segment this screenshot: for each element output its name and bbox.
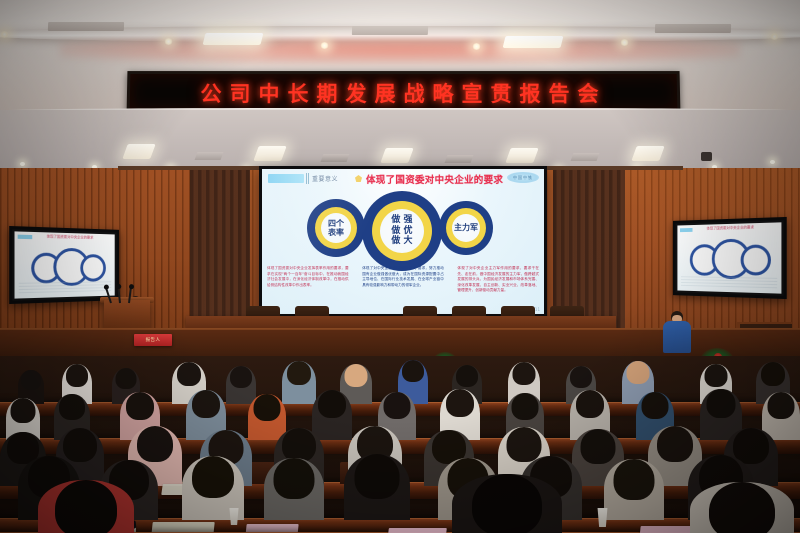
person-head: [705, 364, 728, 387]
audience-person: [604, 459, 664, 520]
person-head: [318, 390, 346, 418]
mini-paragraph-block: [19, 281, 111, 295]
slide-header: 重要意义 体现了国资委对中央企业的要求 中国中铁: [262, 169, 544, 191]
person-head: [507, 427, 542, 462]
person-head: [384, 392, 411, 419]
paper-sheet-pink: [639, 526, 694, 533]
mini-ring-right: [741, 244, 771, 275]
ceiling-light-panel: [122, 144, 155, 159]
concentric-rings-diagram: 四个 表率 做 强 做 优 做 大: [262, 193, 544, 263]
person-head: [11, 398, 36, 423]
mini-slide-title: 体现了国资委对中央企业的要求: [47, 234, 94, 240]
person-head: [345, 364, 368, 387]
side-monitor-left: 体现了国资委对中央企业的要求: [9, 226, 119, 304]
mini-ring-right: [80, 254, 106, 282]
person-head: [761, 362, 785, 386]
mirrored-slide: 体现了国资委对中央企业的要求: [677, 222, 781, 293]
audience-person: [248, 394, 286, 440]
ceiling-downlight: [164, 38, 173, 45]
person-head: [21, 370, 41, 390]
ceiling-spotlight: [770, 160, 775, 164]
person-head: [707, 389, 736, 418]
person-head: [177, 362, 201, 386]
person-head: [446, 389, 474, 417]
ceiling-strip-light: [203, 33, 264, 45]
ring-left-line-1: 四个: [328, 219, 344, 228]
ceiling-vent: [352, 26, 428, 35]
mini-slide-title: 体现了国资委对中央企业的要求: [707, 225, 754, 231]
presentation-slide: 重要意义 体现了国资委对中央企业的要求 中国中铁 四个 表率: [262, 169, 544, 314]
ceiling-light-panel: [505, 148, 538, 163]
person-head: [456, 365, 478, 387]
ring-center-line-1: 做 强: [391, 215, 412, 226]
side-monitor-right: 体现了国资委对中央企业的要求: [673, 217, 787, 299]
person-head: [230, 366, 252, 388]
ring-right-line-1: 主力军: [454, 223, 478, 232]
person-head: [282, 428, 316, 462]
ceiling-downlight: [770, 33, 779, 40]
ceiling-air-vent: [195, 152, 224, 160]
ceiling-vent: [48, 22, 124, 31]
ring-right: 主力军: [439, 201, 493, 255]
ceiling-downlight: [0, 31, 9, 38]
person-head: [768, 392, 795, 419]
ring-inner-disc: 主力军: [452, 214, 480, 242]
person-head: [116, 368, 137, 389]
audience-person-foreground: [690, 482, 794, 533]
person-head: [614, 459, 655, 500]
ceiling-downlight: [620, 39, 629, 46]
ring-center: 做 强 做 优 做 大: [362, 191, 442, 271]
person-head: [59, 394, 85, 420]
mini-paragraph-block: [681, 276, 777, 290]
ceiling-light-panel: [380, 148, 413, 163]
ceiling-light-panel: [253, 146, 286, 161]
slide-section-tag: 重要意义: [312, 174, 338, 183]
ceiling-strip-light: [503, 36, 564, 48]
audience-person-foreground: [452, 474, 562, 533]
ceiling-light-panel: [631, 146, 664, 161]
person-head: [657, 426, 693, 462]
slide-accent-bar: [268, 174, 304, 183]
company-logo-icon: 中国中铁: [507, 172, 539, 183]
person-head: [274, 458, 315, 499]
person-head: [355, 454, 400, 499]
person-head: [581, 429, 616, 464]
main-projection-screen: 重要意义 体现了国资委对中央企业的要求 中国中铁 四个 表率: [259, 166, 547, 317]
mini-rings-diagram: [15, 244, 115, 284]
slide-title: 体现了国资委对中央企业的要求: [366, 172, 503, 186]
person-head: [287, 361, 311, 385]
person-head: [512, 393, 539, 420]
mini-accent-bar: [18, 235, 33, 240]
audience-area: [0, 356, 800, 533]
slide-page-number: 11: [535, 307, 540, 312]
mirrored-slide: 体现了国资委对中央企业的要求: [15, 231, 115, 298]
person-head: [55, 480, 117, 533]
ceiling-air-vent: [321, 154, 350, 162]
person-head: [642, 392, 669, 419]
audience-person: [312, 390, 352, 440]
person-head: [192, 390, 220, 418]
ring-center-line-2: 做 优: [391, 226, 412, 237]
person-head: [192, 456, 234, 498]
audience-person: [282, 361, 316, 404]
ceiling-spotlight: [20, 162, 25, 166]
person-head: [472, 474, 542, 533]
conference-hall-photo: 公司中长期发展战略宣贯报告会 重要意义: [0, 0, 800, 533]
person-head: [570, 366, 592, 388]
ceiling-air-vent: [445, 155, 474, 163]
person-head: [63, 428, 97, 462]
audience-person: [226, 366, 256, 404]
nameplate: 报告人: [134, 334, 172, 346]
person-head: [513, 362, 536, 385]
ceiling-downlight: [320, 42, 329, 49]
attendee-body: [663, 321, 691, 353]
star-bullet-icon: [355, 175, 362, 182]
ring-inner-disc: 做 强 做 优 做 大: [380, 209, 424, 253]
paper-sheet-pink: [387, 528, 447, 533]
wall-camera-icon: [701, 152, 712, 161]
ceiling-downlight: [472, 43, 481, 50]
ceiling-air-vent: [571, 153, 600, 161]
mini-accent-bar: [680, 228, 692, 232]
ring-left: 四个 表率: [307, 199, 365, 257]
person-head: [576, 390, 604, 418]
audience-person: [264, 458, 324, 520]
slide-accent-stripes: [306, 173, 310, 184]
upper-wall: [0, 110, 800, 172]
person-head: [709, 482, 775, 533]
mini-rings-diagram: [677, 235, 781, 275]
person-head: [402, 360, 424, 382]
audience-person-foreground: [38, 480, 134, 533]
ring-center-line-3: 做 大: [391, 236, 412, 247]
person-head: [254, 394, 281, 421]
led-banner-text: 公司中长期发展战略宣贯报告会: [200, 78, 606, 108]
person-head: [126, 392, 154, 420]
standing-attendee: [663, 311, 691, 353]
ring-left-line-2: 表率: [328, 228, 344, 237]
cove-light-glow: [60, 38, 740, 64]
person-head: [137, 426, 173, 462]
nameplate-text: 报告人: [146, 337, 161, 343]
person-head: [627, 361, 650, 384]
person-head: [66, 364, 88, 387]
audience-person: [344, 454, 410, 520]
company-logo-text: 中国中铁: [513, 175, 533, 181]
ceiling-vent: [655, 24, 731, 33]
ring-inner-disc: 四个 表率: [321, 213, 351, 243]
